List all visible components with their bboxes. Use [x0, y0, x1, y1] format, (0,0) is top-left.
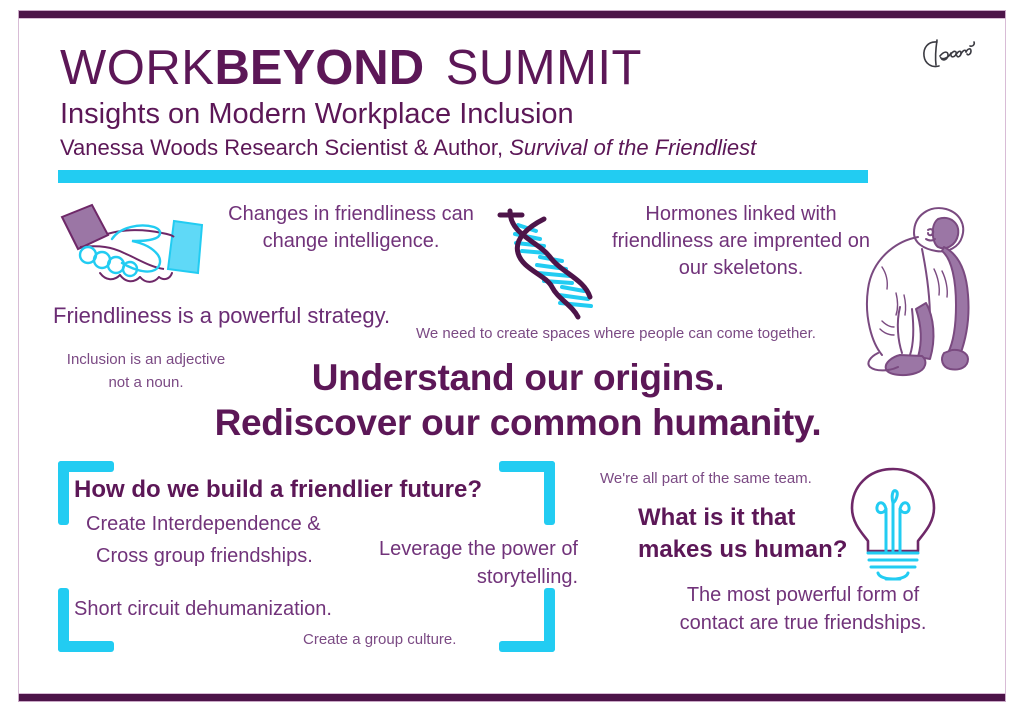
handshake-illustration	[52, 197, 212, 297]
note-true-friendships: The most powerful form of contact are tr…	[658, 581, 948, 637]
title-part-summit: SUMMIT	[446, 41, 642, 95]
byline-plain: Vanessa Woods Research Scientist & Autho…	[60, 135, 503, 160]
bracket-top-left-horizontal	[58, 461, 114, 472]
page-subtitle: Insights on Modern Workplace Inclusion	[60, 99, 940, 131]
poster-root: WORKBEYOND SUMMIT Insights on Modern Wor…	[0, 0, 1024, 712]
page-title: WORKBEYOND SUMMIT	[60, 44, 940, 94]
dna-helix-illustration	[480, 201, 610, 321]
poster-canvas: WORKBEYOND SUMMIT Insights on Modern Wor…	[38, 29, 986, 683]
title-part-work: WORK	[60, 41, 214, 95]
note-friendliness-strategy: Friendliness is a powerful strategy.	[53, 301, 390, 331]
note-create-interdependence: Create Interdependence &	[86, 511, 321, 538]
bracket-bottom-left-horizontal	[58, 641, 114, 652]
main-headline: Understand our origins. Rediscover our c…	[188, 355, 848, 445]
panel-left-question: How do we build a friendlier future?	[74, 476, 482, 504]
note-leverage-storytelling: Leverage the power of storytelling.	[343, 535, 578, 591]
note-changes-intelligence: Changes in friendliness can change intel…	[206, 201, 496, 255]
headline-line-2: Rediscover our common humanity.	[188, 400, 848, 445]
bracket-bottom-right-horizontal	[499, 641, 555, 652]
byline-book-title: Survival of the Friendliest	[509, 135, 756, 160]
title-part-beyond: BEYOND	[214, 41, 424, 95]
headline-line-1: Understand our origins.	[188, 355, 848, 400]
header-underline-bar	[58, 170, 868, 183]
panel-right-question: What is it that makes us human?	[638, 502, 858, 566]
becker-script-logo	[920, 35, 980, 73]
poster-header: WORKBEYOND SUMMIT Insights on Modern Wor…	[60, 44, 940, 160]
note-short-circuit-dehumanization: Short circuit dehumanization.	[74, 596, 332, 623]
note-hormones-skeletons: Hormones linked with friendliness are im…	[596, 201, 886, 282]
speaker-byline: Vanessa Woods Research Scientist & Autho…	[60, 135, 940, 160]
gorilla-illustration	[856, 197, 986, 387]
bracket-top-right-horizontal	[499, 461, 555, 472]
lightbulb-illustration	[838, 461, 948, 586]
note-same-team: We're all part of the same team.	[600, 469, 812, 489]
note-cross-group-friendships: Cross group friendships.	[96, 543, 313, 570]
note-create-group-culture: Create a group culture.	[303, 630, 456, 650]
note-create-spaces: We need to create spaces where people ca…	[416, 324, 816, 344]
